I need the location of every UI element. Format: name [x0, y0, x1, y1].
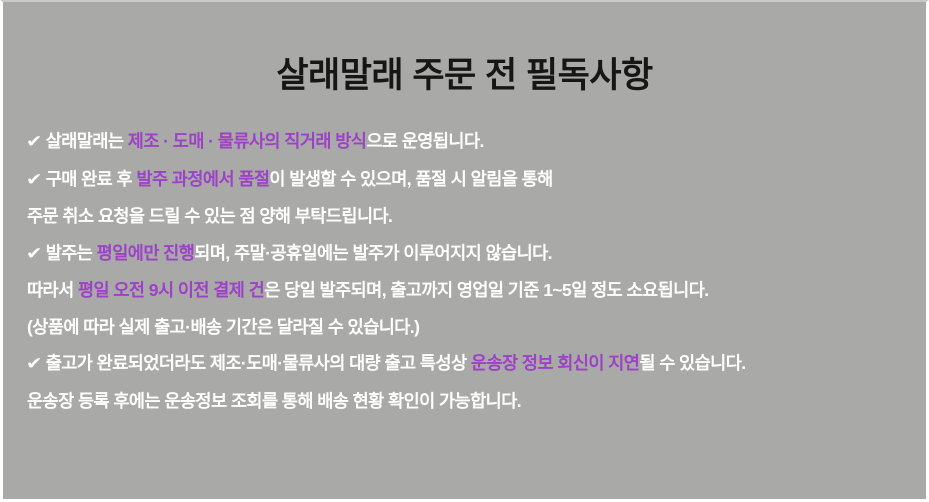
- notice-text: 으로 운영됩니다.: [366, 131, 483, 151]
- notice-line: (상품에 따라 실제 출고·배송 기간은 달라질 수 있습니다.): [27, 309, 926, 346]
- page-title: 살래말래 주문 전 필독사항: [3, 2, 926, 97]
- notice-line: ✔출고가 완료되었더라도 제조·도매·물류사의 대량 출고 특성상 운송장 정보…: [27, 345, 926, 383]
- notice-text: 구매 완료 후: [46, 169, 137, 189]
- notice-line: 따라서 평일 오전 9시 이전 결제 건은 당일 발주되며, 출고까지 영업일 …: [27, 272, 926, 309]
- notice-line: 운송장 등록 후에는 운송정보 조회를 통해 배송 현황 확인이 가능합니다.: [27, 383, 926, 420]
- notice-card: 살래말래 주문 전 필독사항 ✔살래말래는 제조 · 도매 · 물류사의 직거래…: [0, 0, 929, 502]
- highlighted-text: 평일 오전 9시 이전 결제 건: [78, 280, 264, 300]
- notice-line: ✔발주는 평일에만 진행되며, 주말·공휴일에는 발주가 이루어지지 않습니다.: [27, 235, 926, 273]
- notice-text: 운송장 등록 후에는 운송정보 조회를 통해 배송 현황 확인이 가능합니다.: [27, 391, 521, 411]
- highlighted-text: 제조 · 도매 · 물류사의 직거래 방식: [128, 131, 367, 151]
- check-icon: ✔: [26, 124, 42, 161]
- notice-text: 될 수 있습니다.: [639, 353, 745, 373]
- notice-line: ✔구매 완료 후 발주 과정에서 품절이 발생할 수 있으며, 품절 시 알림을…: [27, 161, 926, 199]
- check-icon: ✔: [26, 236, 42, 273]
- notice-text: 살래말래는: [46, 131, 128, 151]
- notice-text: 출고가 완료되었더라도 제조·도매·물류사의 대량 출고 특성상: [46, 353, 471, 373]
- highlighted-text: 발주 과정에서 품절: [136, 169, 269, 189]
- highlighted-text: 운송장 정보 회신이 지연: [471, 353, 639, 373]
- notice-text: 은 당일 발주되며, 출고까지 영업일 기준 1~5일 정도 소요됩니다.: [264, 280, 708, 300]
- check-icon: ✔: [26, 346, 42, 383]
- notice-list: ✔살래말래는 제조 · 도매 · 물류사의 직거래 방식으로 운영됩니다.✔구매…: [3, 97, 926, 419]
- notice-text: 발주는: [46, 243, 97, 263]
- notice-text: 따라서: [27, 280, 78, 300]
- notice-text: 주문 취소 요청을 드릴 수 있는 점 양해 부탁드립니다.: [27, 206, 392, 226]
- check-icon: ✔: [26, 162, 42, 199]
- notice-line: ✔살래말래는 제조 · 도매 · 물류사의 직거래 방식으로 운영됩니다.: [27, 123, 926, 161]
- notice-text: 되며, 주말·공휴일에는 발주가 이루어지지 않습니다.: [194, 243, 552, 263]
- notice-text: 이 발생할 수 있으며, 품절 시 알림을 통해: [269, 169, 552, 189]
- notice-text: (상품에 따라 실제 출고·배송 기간은 달라질 수 있습니다.): [27, 317, 419, 337]
- notice-line: 주문 취소 요청을 드릴 수 있는 점 양해 부탁드립니다.: [27, 198, 926, 235]
- highlighted-text: 평일에만 진행: [97, 243, 195, 263]
